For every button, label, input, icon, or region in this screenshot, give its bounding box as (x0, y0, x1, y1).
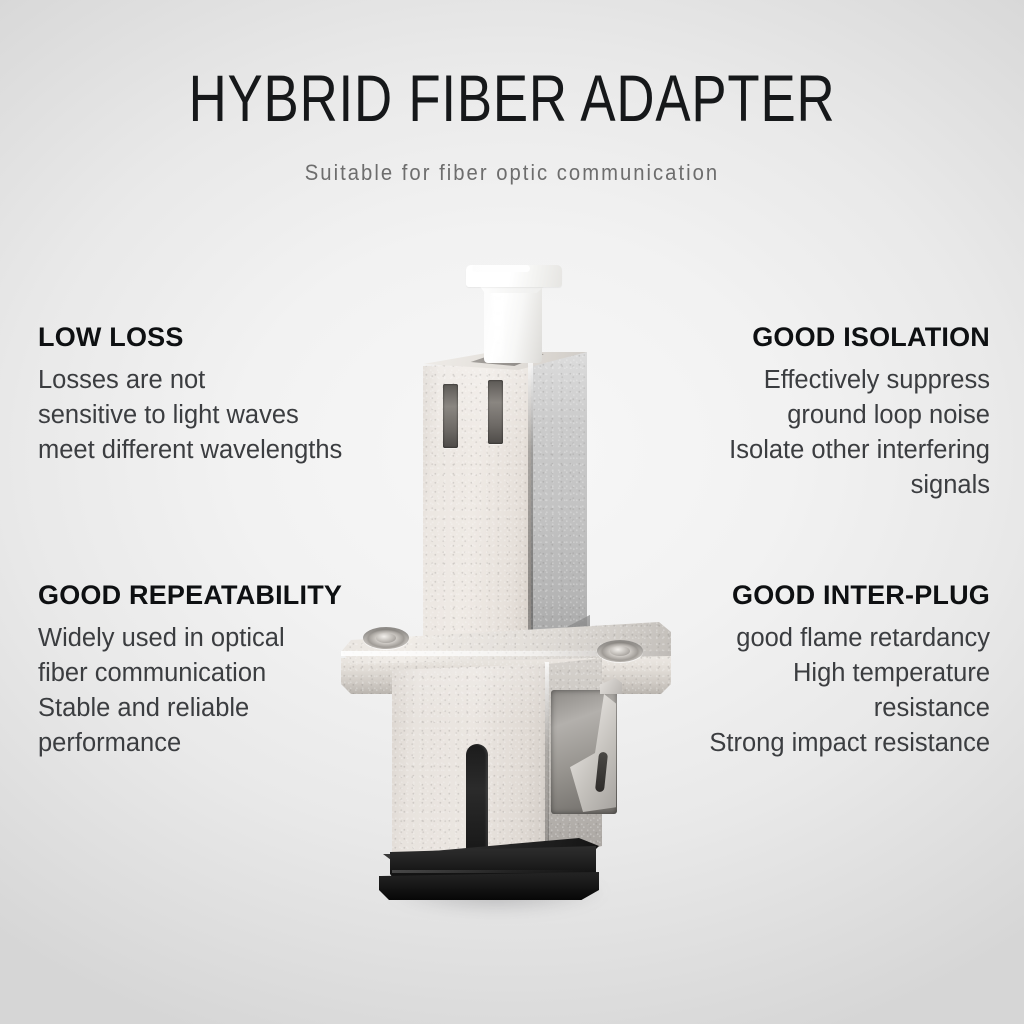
dust-cap-flange (466, 265, 562, 287)
lower-body-corner-edge (545, 662, 549, 858)
base-cap-skirt (379, 872, 599, 900)
upper-body-corner-edge (528, 358, 533, 664)
feature-low-loss: LOW LOSS Losses are not sensitive to lig… (38, 322, 342, 468)
lower-body-keyway-slot (466, 744, 488, 856)
feature-line: Losses are not (38, 363, 342, 398)
feature-line: High temperature (709, 656, 990, 691)
feature-line: signals (729, 468, 990, 503)
feature-body: good flame retardancy High temperature r… (709, 621, 990, 761)
feature-line: performance (38, 726, 342, 761)
dust-cap-body (484, 283, 542, 363)
feature-line: Widely used in optical (38, 621, 342, 656)
feature-line: resistance (709, 691, 990, 726)
feature-good-isolation: GOOD ISOLATION Effectively suppress grou… (729, 322, 990, 503)
feature-heading: GOOD INTER-PLUG (709, 580, 990, 610)
feature-heading: GOOD ISOLATION (729, 322, 990, 352)
feature-heading: LOW LOSS (38, 322, 342, 352)
feature-body: Losses are not sensitive to light waves … (38, 363, 342, 468)
feature-body: Widely used in optical fiber communicati… (38, 621, 342, 761)
upper-body-left-face (423, 362, 531, 660)
feature-line: good flame retardancy (709, 621, 990, 656)
feature-line: Strong impact resistance (709, 726, 990, 761)
feature-line: Effectively suppress (729, 363, 990, 398)
screw-hole-right (597, 640, 643, 662)
product-photo (0, 0, 1024, 1024)
feature-line: Stable and reliable (38, 691, 342, 726)
feature-line: sensitive to light waves (38, 398, 342, 433)
screw-hole-left (363, 627, 409, 649)
feature-heading: GOOD REPEATABILITY (38, 580, 342, 610)
metal-texture (423, 362, 531, 660)
feature-line: Isolate other interfering (729, 433, 990, 468)
feature-line: ground loop noise (729, 398, 990, 433)
base-cap-highlight (392, 870, 588, 873)
feature-line: fiber communication (38, 656, 342, 691)
feature-good-inter-plug: GOOD INTER-PLUG good flame retardancy Hi… (709, 580, 990, 761)
feature-line: meet different wavelengths (38, 433, 342, 468)
latch-slot-right (488, 380, 503, 444)
infographic-canvas: HYBRID FIBER ADAPTER Suitable for fiber … (0, 0, 1024, 1024)
feature-body: Effectively suppress ground loop noise I… (729, 363, 990, 503)
latch-slot-left (443, 384, 458, 448)
feature-good-repeatability: GOOD REPEATABILITY Widely used in optica… (38, 580, 342, 761)
